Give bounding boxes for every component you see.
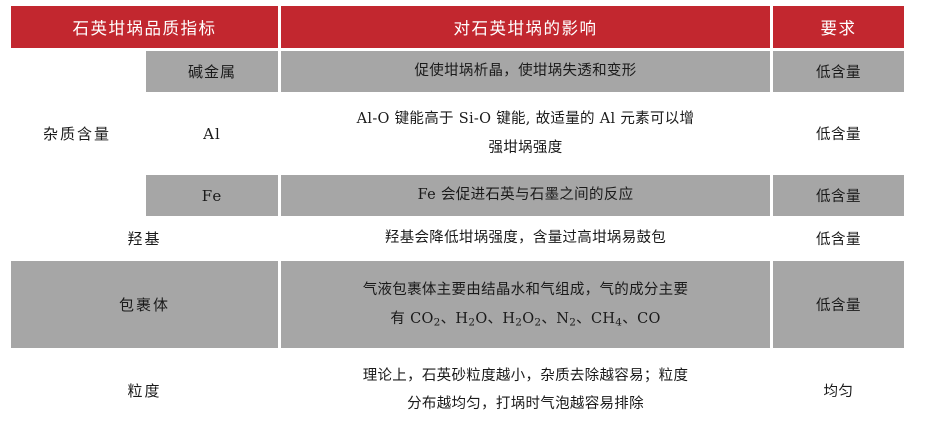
table-header-row: 石英坩埚品质指标 对石英坩埚的影响 要求 [11,6,904,48]
effect-text-line2: 强坩埚强度 [281,134,770,162]
index-label: 粒度 [11,380,278,401]
table-row: Fe Fe 会促进石英与石墨之间的反应 低含量 [11,175,904,216]
table-row: 羟基 羟基会降低坩埚强度，含量过高坩埚易鼓包 低含量 [11,219,904,258]
effect-text: Fe 会促进石英与石墨之间的反应 [281,186,770,205]
sub-label-fe: Fe [146,175,278,216]
effect-text: 促使坩埚析晶，使坩埚失透和变形 [281,62,770,81]
effect-cell-inclusion: 气液包裹体主要由结晶水和气组成，气的成分主要 有 CO2、H2O、H2O2、N2… [281,261,770,348]
header-cell-index: 石英坩埚品质指标 [11,6,278,48]
effect-cell-al: Al-O 键能高于 Si-O 键能, 故适量的 Al 元素可以增 强坩埚强度 [281,95,770,172]
quality-indicator-table: 石英坩埚品质指标 对石英坩埚的影响 要求 杂质含量 碱金属 促使坩埚析晶，使坩埚… [8,3,907,432]
header-cell-requirement: 要求 [773,6,904,48]
effect-text-line1: 理论上，石英砂粒度越小，杂质去除越容易；粒度 [281,362,770,390]
effect-text-line2: 分布越均匀，打埚时气泡越容易排除 [281,390,770,418]
requirement-cell-inclusion: 低含量 [773,261,904,348]
index-label: 羟基 [11,228,278,249]
requirement-cell-hydroxyl: 低含量 [773,219,904,258]
sub-label-al: Al [146,95,278,172]
effect-cell-granularity: 理论上，石英砂粒度越小，杂质去除越容易；粒度 分布越均匀，打埚时气泡越容易排除 [281,351,770,429]
row-group-label-granularity: 粒度 [11,351,278,429]
requirement-cell-al: 低含量 [773,95,904,172]
effect-text-line2-chemistry: 有 CO2、H2O、H2O2、N2、CH4、CO [281,305,770,333]
row-group-label-hydroxyl: 羟基 [11,219,278,258]
effect-cell-hydroxyl: 羟基会降低坩埚强度，含量过高坩埚易鼓包 [281,219,770,258]
effect-text-line1: Al-O 键能高于 Si-O 键能, 故适量的 Al 元素可以增 [281,105,770,133]
sub-label-alkali-metal: 碱金属 [146,51,278,92]
requirement-cell-fe: 低含量 [773,175,904,216]
header-cell-effect: 对石英坩埚的影响 [281,6,770,48]
table-row: 杂质含量 碱金属 促使坩埚析晶，使坩埚失透和变形 低含量 [11,51,904,92]
requirement-cell-alkali-metal: 低含量 [773,51,904,92]
requirement-cell-granularity: 均匀 [773,351,904,429]
effect-cell-fe: Fe 会促进石英与石墨之间的反应 [281,175,770,216]
row-group-label-inclusion: 包裹体 [11,261,278,348]
effect-text: 羟基会降低坩埚强度，含量过高坩埚易鼓包 [281,229,770,248]
table-row: 包裹体 气液包裹体主要由结晶水和气组成，气的成分主要 有 CO2、H2O、H2O… [11,261,904,348]
table-row: 粒度 理论上，石英砂粒度越小，杂质去除越容易；粒度 分布越均匀，打埚时气泡越容易… [11,351,904,429]
row-group-label-impurity: 杂质含量 [11,51,143,216]
index-label: 杂质含量 [11,123,143,144]
quality-table-container: 石英坩埚品质指标 对石英坩埚的影响 要求 杂质含量 碱金属 促使坩埚析晶，使坩埚… [8,3,898,431]
effect-text-line1: 气液包裹体主要由结晶水和气组成，气的成分主要 [281,276,770,304]
index-label: 包裹体 [11,294,278,315]
effect-cell-alkali-metal: 促使坩埚析晶，使坩埚失透和变形 [281,51,770,92]
table-row: Al Al-O 键能高于 Si-O 键能, 故适量的 Al 元素可以增 强坩埚强… [11,95,904,172]
